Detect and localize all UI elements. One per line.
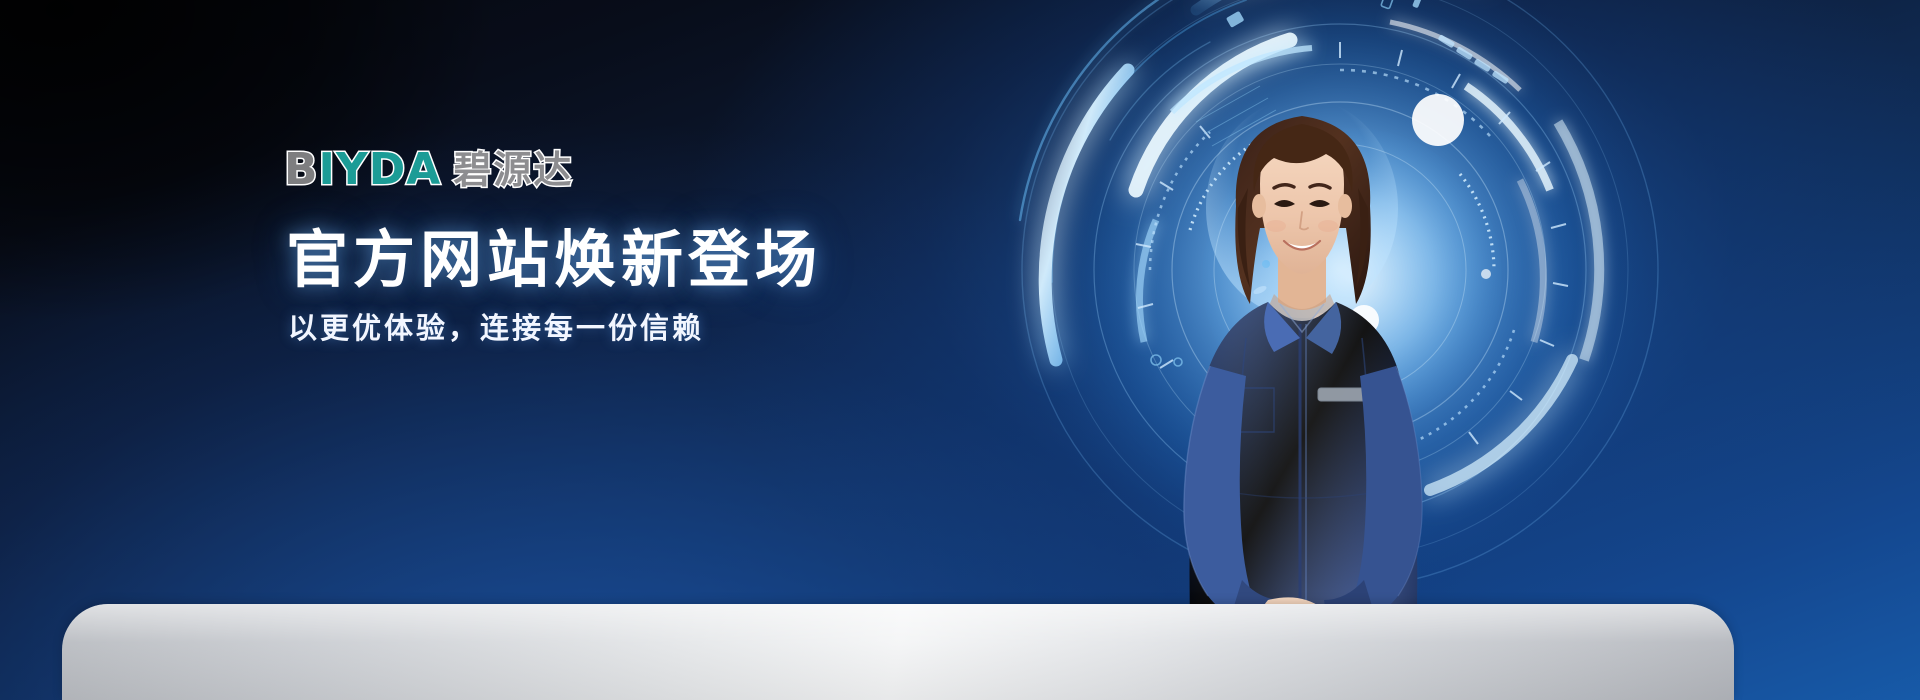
bottom-silver-panel — [62, 604, 1734, 700]
logo-letters-iyda: IYDA — [319, 148, 442, 192]
tech-hud-circle-graphic — [960, 0, 1720, 650]
brand-logo[interactable]: BIYDA 碧源达 — [284, 148, 573, 192]
silver-panel-sheen — [62, 604, 1734, 700]
page-title: 官方网站焕新登场 — [286, 228, 822, 295]
logo-chinese-text: 碧源达 — [453, 151, 573, 189]
logo-latin-text: BIYDA — [284, 148, 441, 192]
hero-banner: BIYDA 碧源达 官方网站焕新登场 以更优体验，连接每一份信赖 — [0, 0, 1920, 700]
page-subtitle: 以更优体验，连接每一份信赖 — [288, 305, 704, 347]
logo-letter-b: B — [284, 148, 319, 192]
